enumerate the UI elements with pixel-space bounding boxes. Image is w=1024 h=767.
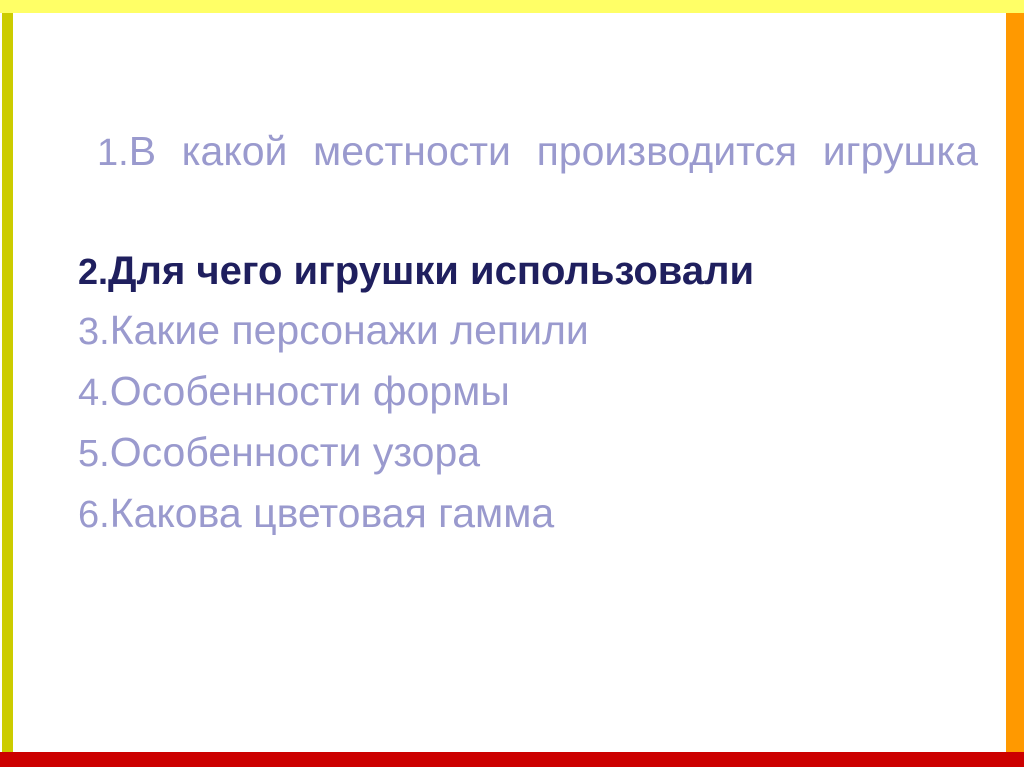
question-item-5: 5.Особенности узора <box>78 423 978 484</box>
question-text-4: Особенности формы <box>110 368 510 414</box>
question-list: 1.В какой местности производится игрушка… <box>78 122 978 545</box>
slide-border-right <box>1006 13 1024 752</box>
question-text-5: Особенности узора <box>110 429 480 475</box>
question-number-3: 3. <box>78 311 110 353</box>
question-text-2: Для чего игрушки использовали <box>108 249 754 293</box>
slide-border-bottom <box>0 752 1024 767</box>
question-number-2: 2. <box>78 251 108 292</box>
question-item-3: 3.Какие персонажи лепили <box>78 301 978 362</box>
question-number-5: 5. <box>78 433 110 475</box>
question-item-4: 4.Особенности формы <box>78 362 978 423</box>
question-number-4: 4. <box>78 372 110 414</box>
slide-border-left <box>2 13 13 752</box>
question-text-1: В какой местности производится игрушка <box>129 128 978 174</box>
slide-border-top <box>0 0 1024 13</box>
question-text-6: Какова цветовая гамма <box>110 490 555 536</box>
question-item-1: 1.В какой местности производится игрушка <box>78 122 978 242</box>
question-number-6: 6. <box>78 494 110 536</box>
question-text-3: Какие персонажи лепили <box>110 307 589 353</box>
question-item-6: 6.Какова цветовая гамма <box>78 484 978 545</box>
question-item-2: 2.Для чего игрушки использовали <box>78 242 978 301</box>
question-number-1: 1. <box>97 132 129 174</box>
slide-canvas: 1.В какой местности производится игрушка… <box>0 0 1024 767</box>
